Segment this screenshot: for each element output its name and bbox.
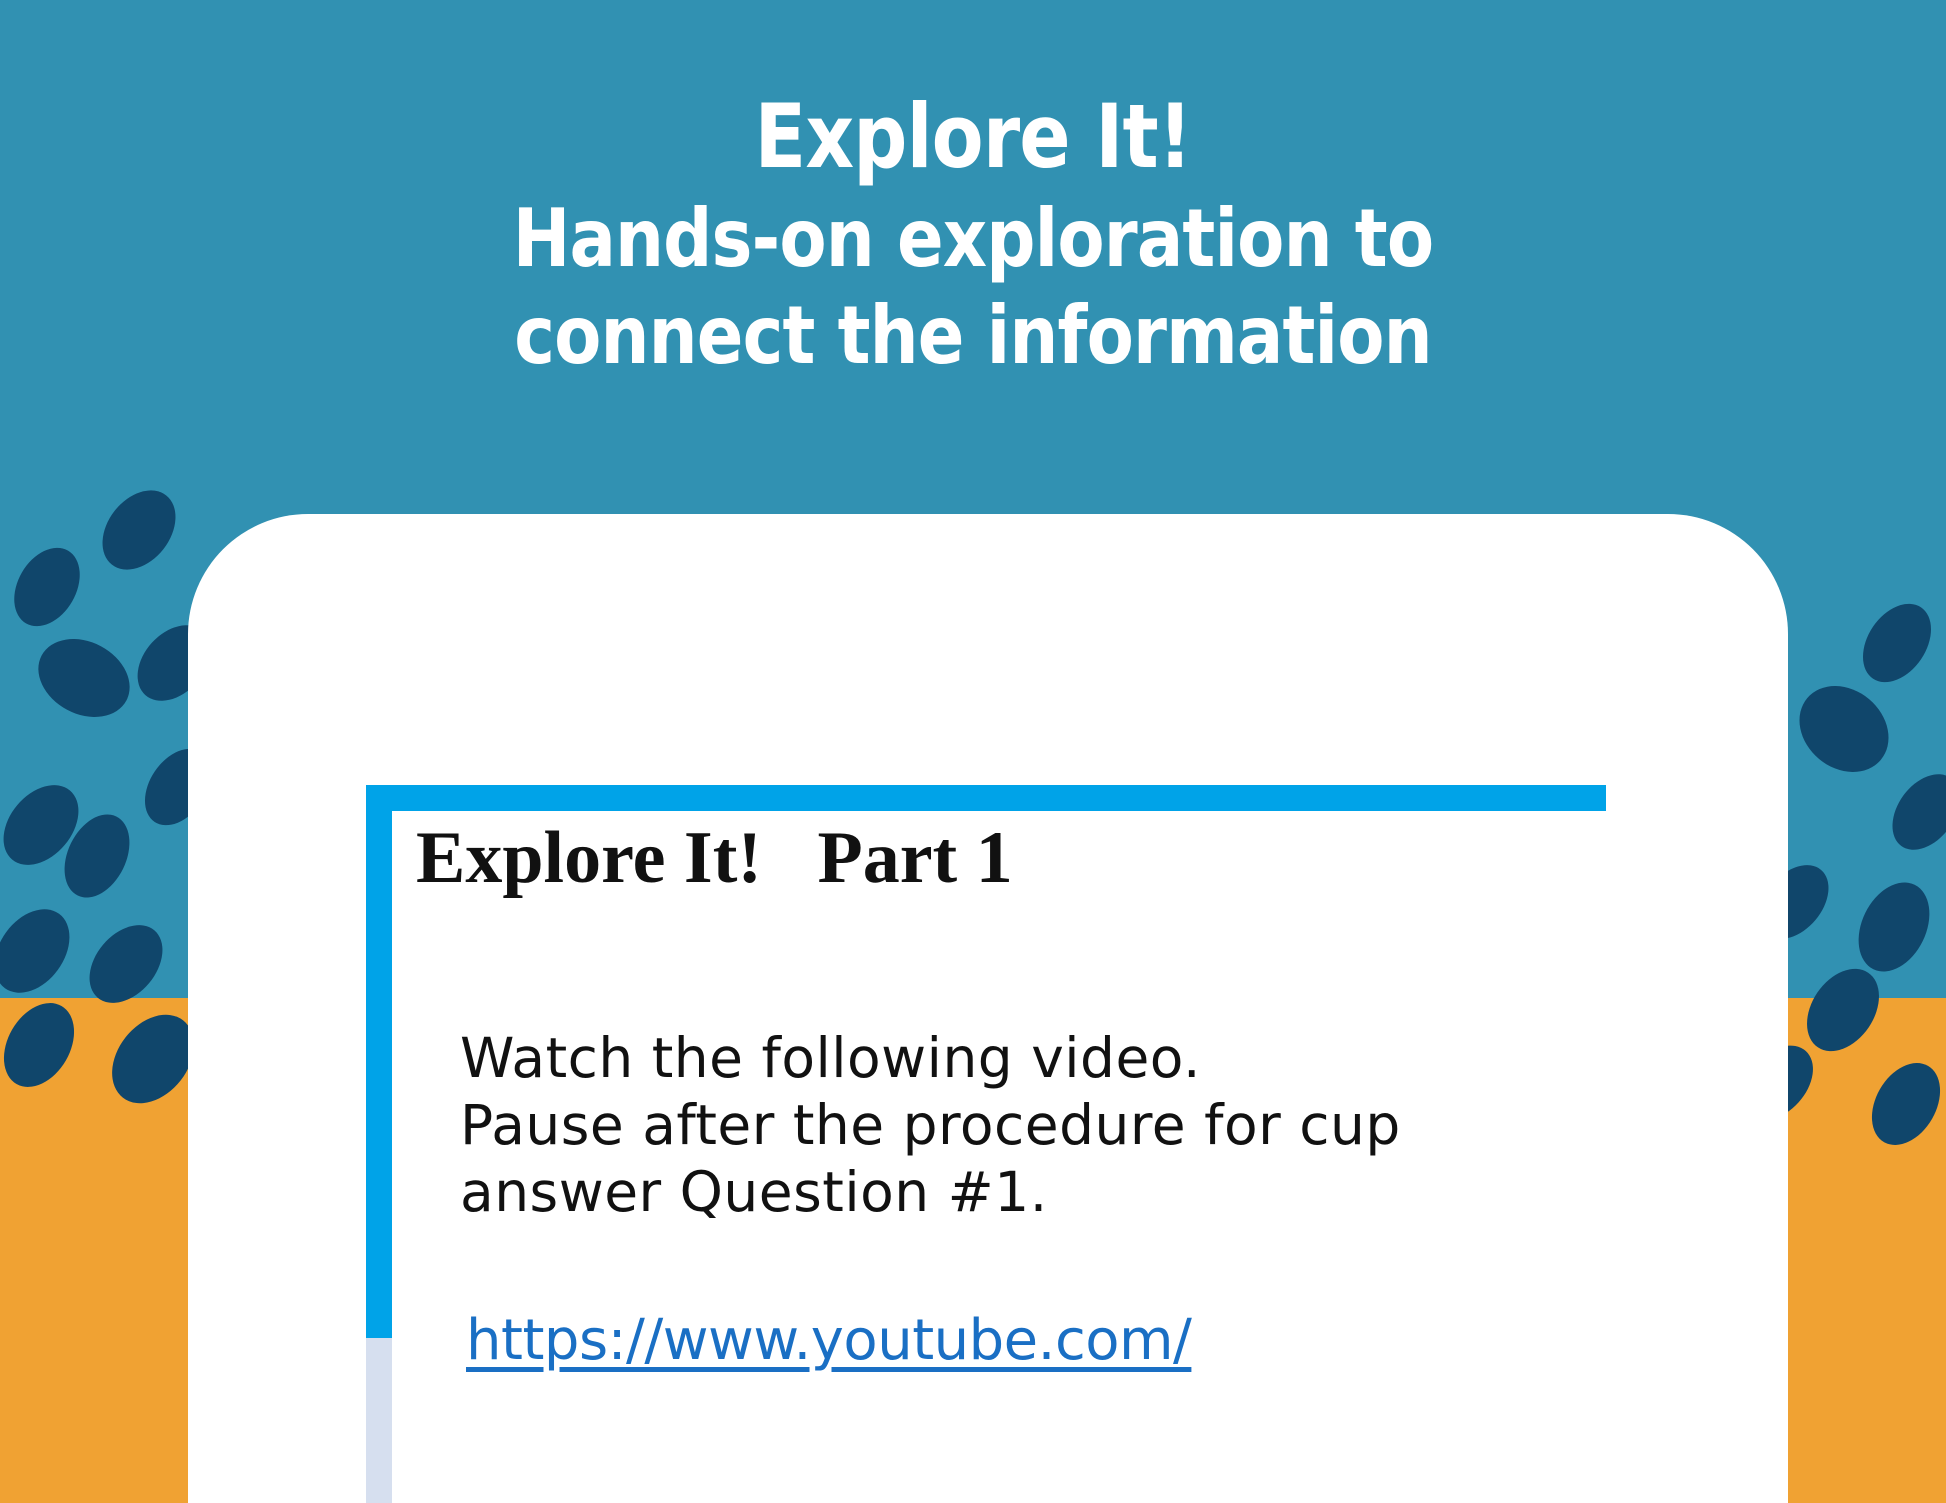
slide-title: Explore It!: [136, 92, 1810, 182]
embedded-document: Explore It! Part 1 Watch the following v…: [366, 785, 1606, 1503]
youtube-link[interactable]: https://www.youtube.com/: [466, 1310, 1191, 1372]
slide-subtitle-line-2: connect the information: [136, 287, 1810, 385]
document-left-accent-bar: [366, 785, 392, 1338]
document-left-accent-bar-faded: [366, 1338, 392, 1503]
slide-canvas: Explore It! Hands-on exploration to conn…: [0, 0, 1946, 1503]
document-body-text: Watch the following video. Pause after t…: [460, 1025, 1600, 1226]
slide-heading-block: Explore It! Hands-on exploration to conn…: [0, 92, 1946, 385]
slide-subtitle-line-1: Hands-on exploration to: [136, 190, 1810, 288]
document-top-accent-bar: [390, 785, 1606, 811]
document-heading: Explore It! Part 1: [416, 821, 1013, 895]
